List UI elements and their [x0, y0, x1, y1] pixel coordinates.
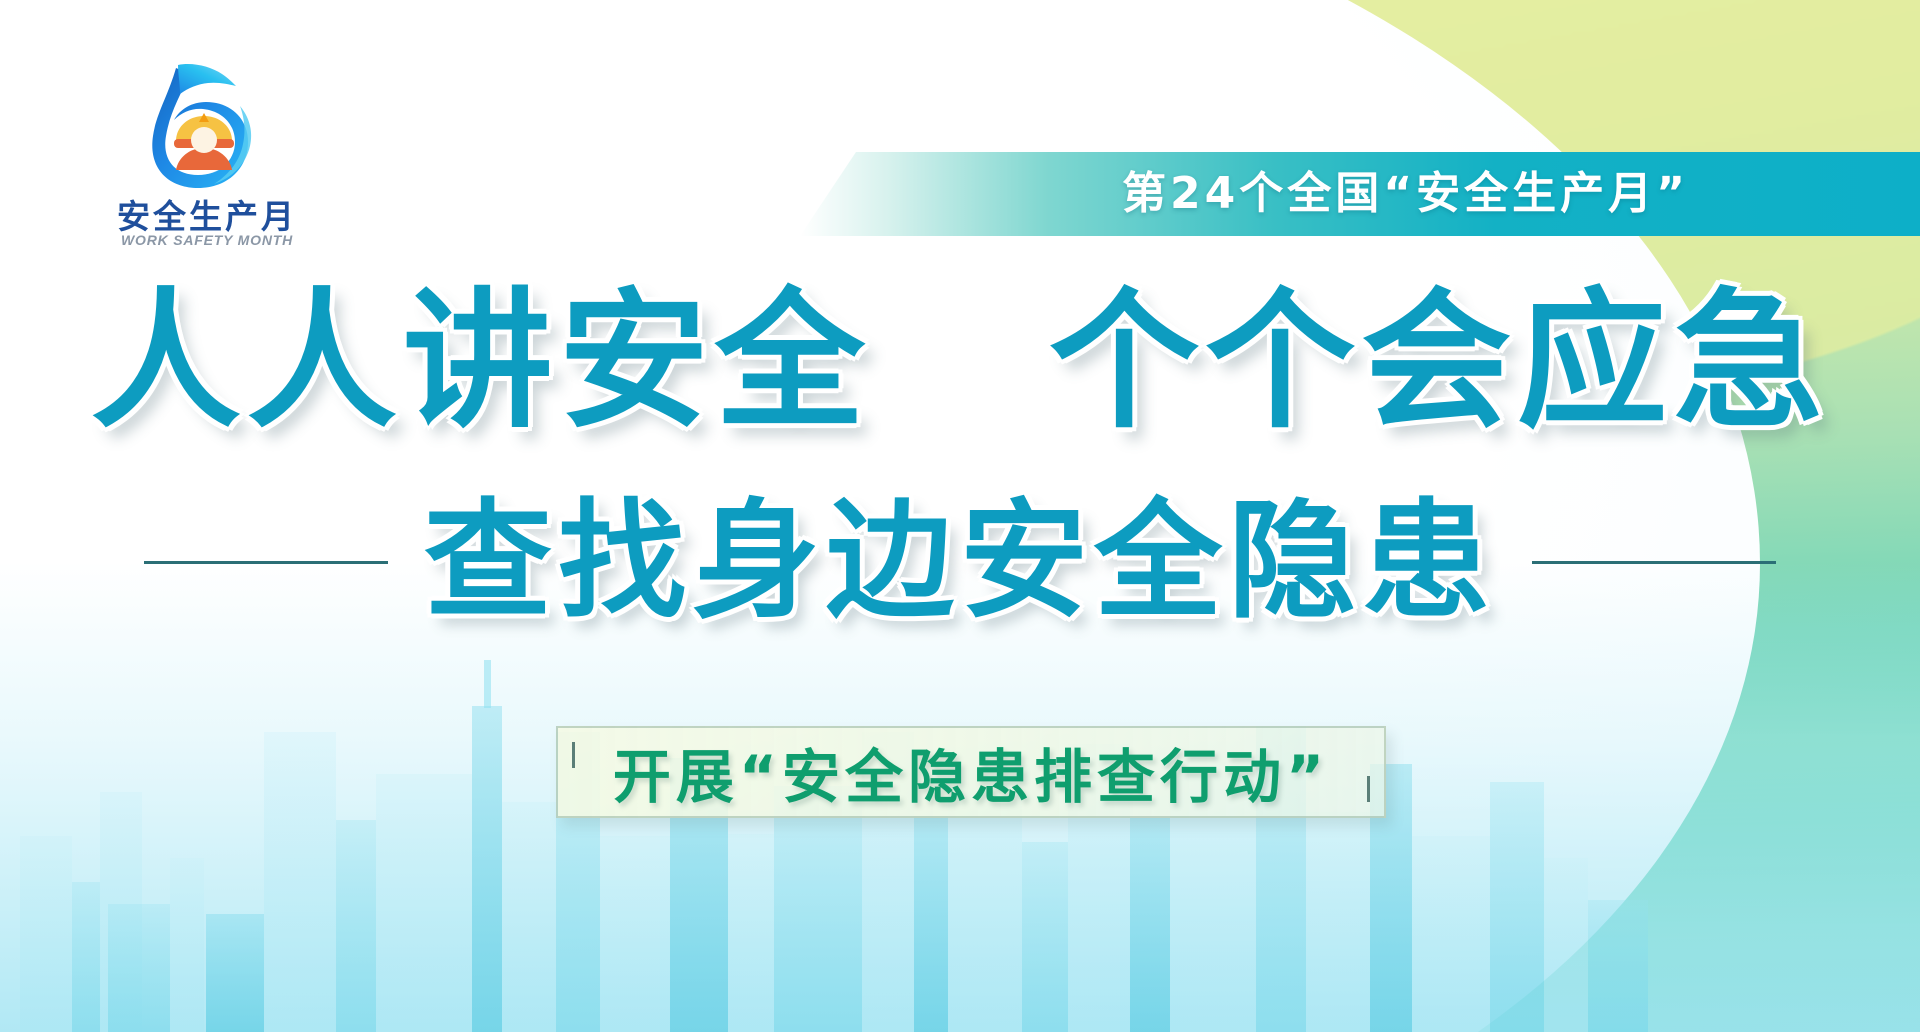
headline-line-1-part-1: 人人讲安全 — [91, 275, 871, 449]
work-safety-month-logo: 安全生产月 WORK SAFETY MONTH — [92, 52, 322, 252]
headline-line-2: 查找身边安全隐患 — [424, 488, 1496, 636]
ribbon-label: 第24个全国“安全生产月” — [1122, 152, 1689, 236]
subtitle-label: 开展“安全隐患排查行动” — [558, 728, 1384, 816]
six-emblem-icon — [118, 52, 288, 192]
headline-line-1: 人人讲安全 个个会应急 — [0, 278, 1920, 446]
headline-rule-left — [144, 561, 388, 564]
headline-line-1-part-2: 个个会应急 — [1049, 275, 1829, 449]
logo-english-title: WORK SAFETY MONTH — [92, 232, 322, 248]
safety-month-poster: 安全生产月 WORK SAFETY MONTH 第24个全国“安全生产月” 人人… — [0, 0, 1920, 1032]
logo-chinese-title: 安全生产月 — [92, 190, 322, 238]
headline-block: 人人讲安全 个个会应急 查找身边安全隐患 — [0, 278, 1920, 446]
headline-line-2-row: 查找身边安全隐患 — [0, 488, 1920, 636]
subtitle-plate: 开展“安全隐患排查行动” — [556, 726, 1386, 818]
headline-rule-right — [1532, 561, 1776, 564]
